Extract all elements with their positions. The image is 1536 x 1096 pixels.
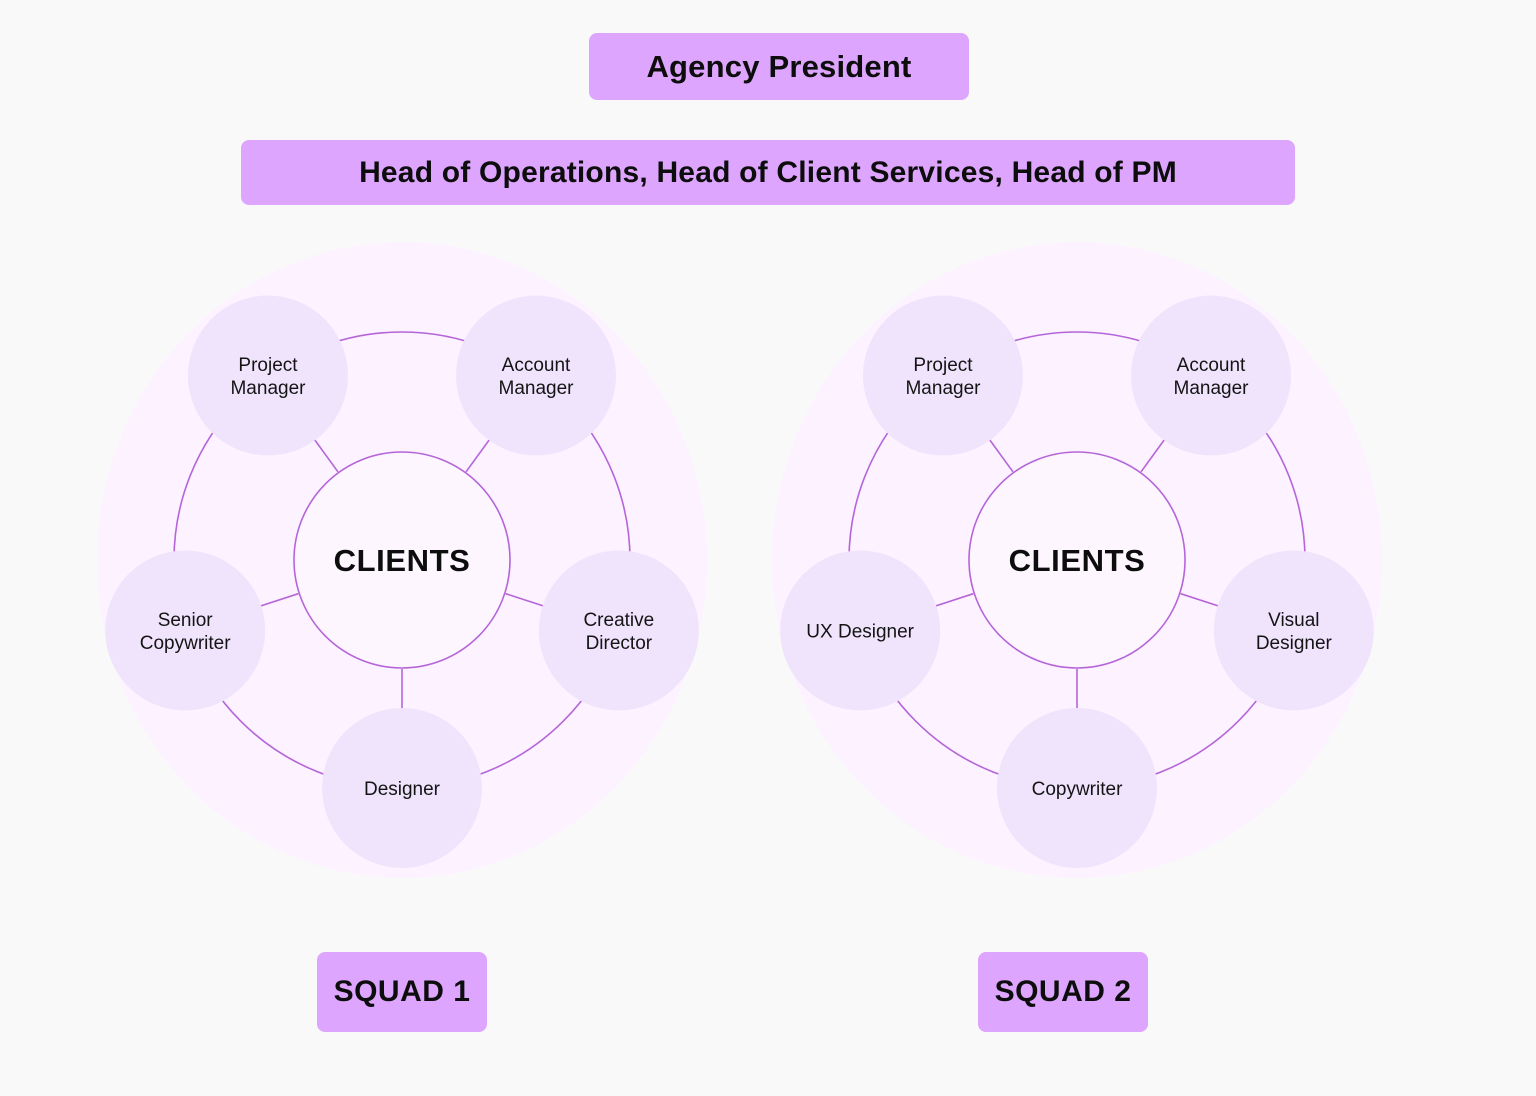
role-label-designer: Designer	[364, 779, 441, 800]
role-label-ux-designer: UX Designer	[806, 621, 914, 642]
clients-hub-label: CLIENTS	[334, 543, 471, 578]
role-label-visual-designer: Designer	[1256, 633, 1333, 654]
role-label-account-manager: Account	[1177, 355, 1246, 376]
role-label-account-manager: Manager	[1174, 378, 1250, 399]
role-label-project-manager: Project	[238, 355, 298, 376]
role-label-project-manager: Manager	[905, 378, 981, 399]
squad-1-badge: SQUAD 1	[317, 952, 487, 1032]
squad-2-badge: SQUAD 2	[978, 952, 1148, 1032]
role-label-senior-copywriter: Senior	[158, 610, 214, 631]
role-label-account-manager: Manager	[499, 378, 575, 399]
department-heads-banner: Head of Operations, Head of Client Servi…	[241, 140, 1295, 205]
agency-president-banner: Agency President	[589, 33, 969, 100]
role-label-project-manager: Project	[913, 355, 973, 376]
role-label-creative-director: Creative	[583, 610, 654, 631]
role-label-copywriter: Copywriter	[1032, 779, 1123, 800]
clients-hub-label: CLIENTS	[1009, 543, 1146, 578]
squad-1-wheel: AccountManagerProjectManagerSeniorCopywr…	[72, 232, 732, 912]
role-label-account-manager: Account	[502, 355, 571, 376]
role-label-senior-copywriter: Copywriter	[140, 633, 231, 654]
squad-2-wheel: AccountManagerProjectManagerUX DesignerC…	[747, 232, 1407, 912]
role-label-visual-designer: Visual	[1268, 610, 1319, 631]
diagram-canvas: Agency President Head of Operations, Hea…	[0, 0, 1536, 1096]
role-label-creative-director: Director	[586, 633, 653, 654]
role-label-project-manager: Manager	[230, 378, 306, 399]
